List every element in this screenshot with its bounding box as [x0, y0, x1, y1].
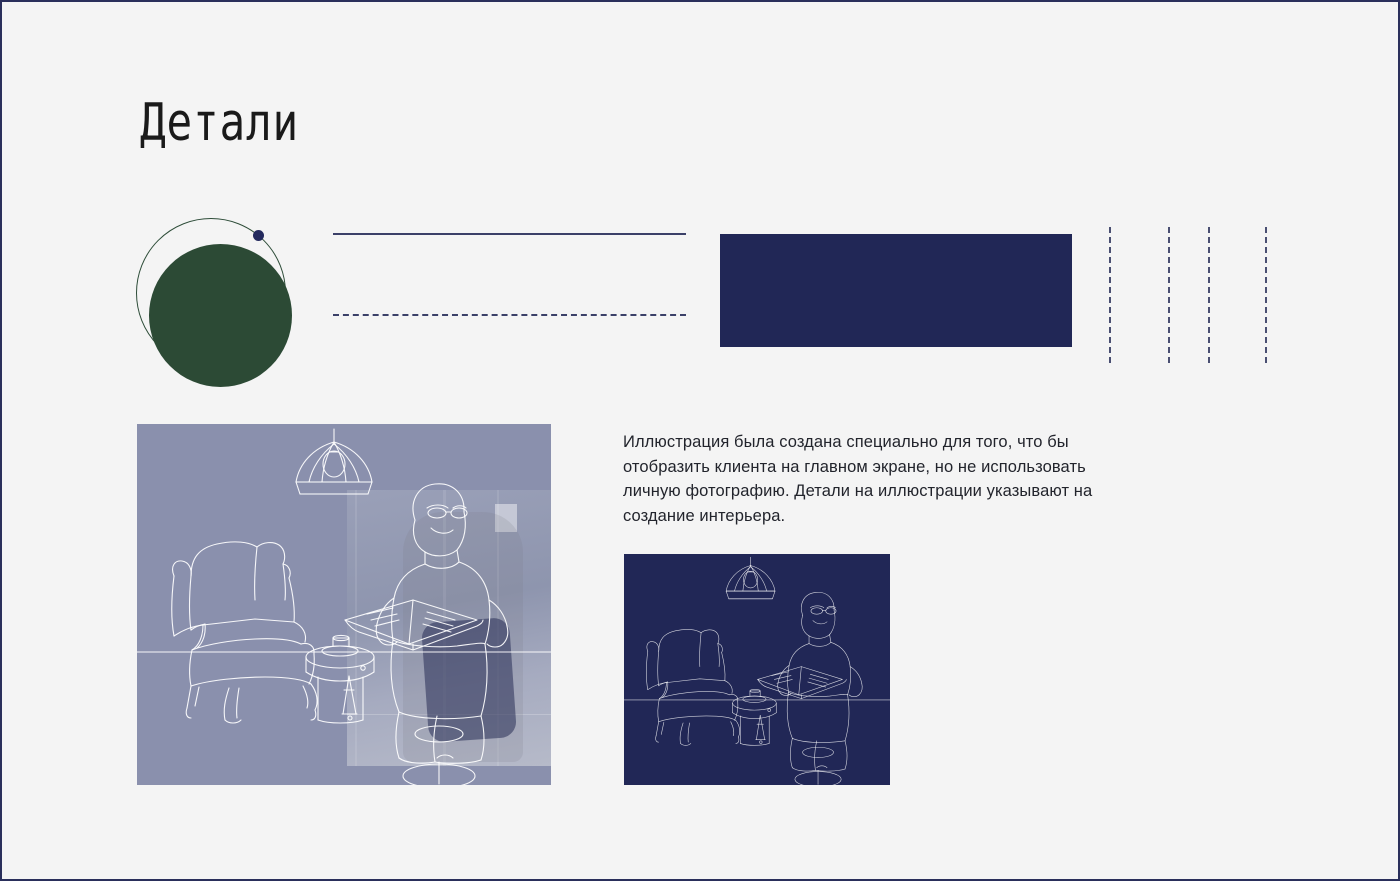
round-side-table-icon: [306, 635, 374, 723]
navy-color-swatch: [720, 234, 1072, 347]
illustration-line-art: [137, 424, 551, 785]
vertical-dashed-rule-3: [1208, 227, 1210, 363]
swatch-green-disc: [149, 244, 292, 387]
round-side-table-icon: [733, 689, 777, 745]
woman-reading-icon: [758, 592, 863, 785]
illustration-on-navy-panel: [624, 554, 890, 785]
pendant-lamp-icon: [726, 557, 775, 599]
slide-canvas: Детали Иллюстрация была создана специаль…: [0, 0, 1400, 881]
vertical-dashed-rule-1: [1109, 227, 1111, 363]
illustration-over-photo-panel: [137, 424, 551, 785]
swatch-accent-dot: [253, 230, 264, 241]
green-color-swatch: [136, 218, 298, 370]
wingback-armchair-icon: [172, 542, 317, 723]
vertical-dashed-rule-4: [1265, 227, 1267, 363]
illustration-line-art: [624, 554, 890, 785]
vertical-dashed-rule-2: [1168, 227, 1170, 363]
dashed-rule-line: [333, 314, 686, 316]
page-title: Детали: [140, 97, 299, 149]
description-paragraph: Иллюстрация была создана специально для …: [623, 430, 1103, 528]
pendant-lamp-icon: [296, 429, 372, 494]
solid-rule-line: [333, 233, 686, 235]
wingback-armchair-icon: [646, 629, 739, 745]
woman-reading-icon: [345, 484, 508, 785]
